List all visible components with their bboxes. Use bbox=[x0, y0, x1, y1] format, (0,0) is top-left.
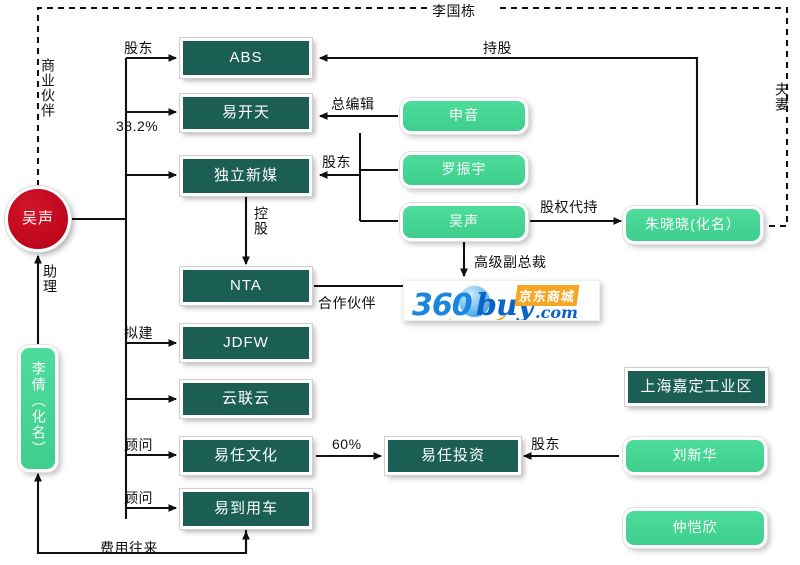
label-hezuo-huoban: 合作伙伴 bbox=[318, 293, 376, 313]
label-feiyong-wanglai: 费用往来 bbox=[100, 538, 158, 558]
node-zhuxiaoxiao[interactable]: 朱晓晓(化名） bbox=[623, 206, 763, 244]
node-zhongkaixin[interactable]: 仲恺欣 bbox=[623, 508, 767, 548]
label-gudong-abs: 股东 bbox=[124, 38, 153, 58]
label-zhuli: 助理 bbox=[40, 264, 60, 294]
label-gaoji-fuzongcai: 高级副总裁 bbox=[474, 252, 547, 272]
node-liqian[interactable]: 李倩（化名） bbox=[18, 345, 58, 472]
node-wusheng-green[interactable]: 吴声 bbox=[400, 203, 528, 241]
node-abs[interactable]: ABS bbox=[180, 38, 312, 78]
node-shenyin[interactable]: 申音 bbox=[400, 98, 528, 134]
label-guquan-daichi: 股权代持 bbox=[540, 197, 598, 217]
label-guwen-yirenwenhua: 顾问 bbox=[124, 435, 153, 455]
node-yikaitian[interactable]: 易开天 bbox=[180, 94, 312, 132]
node-jdfw[interactable]: JDFW bbox=[180, 324, 312, 362]
360buy-number: 360 bbox=[412, 288, 472, 321]
node-yirentouzi[interactable]: 易任投资 bbox=[385, 437, 521, 475]
label-nijian: 拟建 bbox=[124, 323, 153, 343]
label-business-partner: 商业伙伴 bbox=[38, 58, 58, 118]
label-38-2-percent: 38.2% bbox=[116, 118, 158, 134]
node-luozhenyu[interactable]: 罗振宇 bbox=[400, 152, 528, 188]
label-konggu: 控股 bbox=[251, 206, 271, 236]
label-gudong-yirentouzi: 股东 bbox=[531, 434, 560, 454]
node-liuxinhua[interactable]: 刘新华 bbox=[623, 437, 767, 475]
label-liguodong: 李国栋 bbox=[432, 1, 476, 21]
node-yirenwenhua[interactable]: 易任文化 bbox=[180, 437, 312, 475]
node-yunlianyun[interactable]: 云联云 bbox=[180, 380, 312, 418]
relationship-diagram: 吴声 ABS 易开天 独立新媒 NTA JDFW 云联云 易任文化 易到用车 易… bbox=[0, 0, 800, 565]
node-360buy-logo[interactable]: 360 buy 京东商城 .com bbox=[403, 280, 600, 321]
node-dulixinmei[interactable]: 独立新媒 bbox=[180, 156, 312, 196]
node-yidaoyongche[interactable]: 易到用车 bbox=[180, 489, 312, 529]
node-wusheng-circle[interactable]: 吴声 bbox=[5, 186, 71, 252]
label-fuqi: 夫妻 bbox=[772, 82, 792, 112]
connector-lines bbox=[0, 0, 800, 565]
node-nta[interactable]: NTA bbox=[180, 267, 312, 305]
label-guwen-yidaoyongche: 顾问 bbox=[124, 488, 153, 508]
label-60-percent: 60% bbox=[332, 436, 362, 452]
label-chigu: 持股 bbox=[483, 38, 512, 58]
label-zongbianji: 总编辑 bbox=[331, 94, 375, 114]
360buy-com-suffix: .com bbox=[535, 303, 578, 321]
node-shanghai-jiading[interactable]: 上海嘉定工业区 bbox=[625, 368, 768, 406]
label-gudong-dulixinmei: 股东 bbox=[322, 152, 351, 172]
